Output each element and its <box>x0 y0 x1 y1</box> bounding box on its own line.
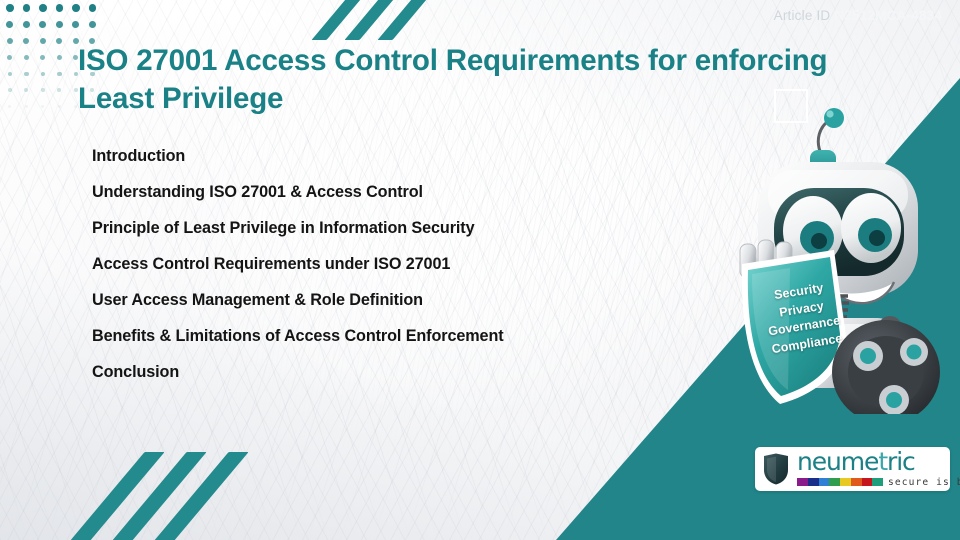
logo-wordmark: neumetric <box>797 450 960 475</box>
bottom-diagonal-slashes <box>106 452 246 540</box>
logo-shield-icon <box>761 452 791 486</box>
logo-tagline: secure is better <box>888 477 960 488</box>
agenda-item: Introduction <box>92 138 652 174</box>
agenda-item: Access Control Requirements under ISO 27… <box>92 246 652 282</box>
agenda-item: Principle of Least Privilege in Informat… <box>92 210 652 246</box>
top-diagonal-slashes <box>330 0 450 40</box>
neumetric-logo: neumetric secure is better <box>755 447 950 491</box>
agenda-item: Conclusion <box>92 354 652 390</box>
logo-word-t: t <box>878 447 887 476</box>
logo-word-main: neume <box>797 447 878 476</box>
article-id-value: N2512MCA-4834 <box>834 8 942 23</box>
logo-color-bar <box>797 478 883 486</box>
agenda-list: IntroductionUnderstanding ISO 27001 & Ac… <box>92 138 652 390</box>
robot-mascot-illustration <box>718 104 960 414</box>
article-id: Article ID N2512MCA-4834 <box>774 8 942 23</box>
agenda-item: User Access Management & Role Definition <box>92 282 652 318</box>
article-id-label: Article ID <box>774 8 831 23</box>
logo-word-end: ric <box>887 447 915 476</box>
agenda-item: Benefits & Limitations of Access Control… <box>92 318 652 354</box>
agenda-item: Understanding ISO 27001 & Access Control <box>92 174 652 210</box>
presentation-slide: Article ID N2512MCA-4834 ISO 27001 Acces… <box>0 0 960 540</box>
